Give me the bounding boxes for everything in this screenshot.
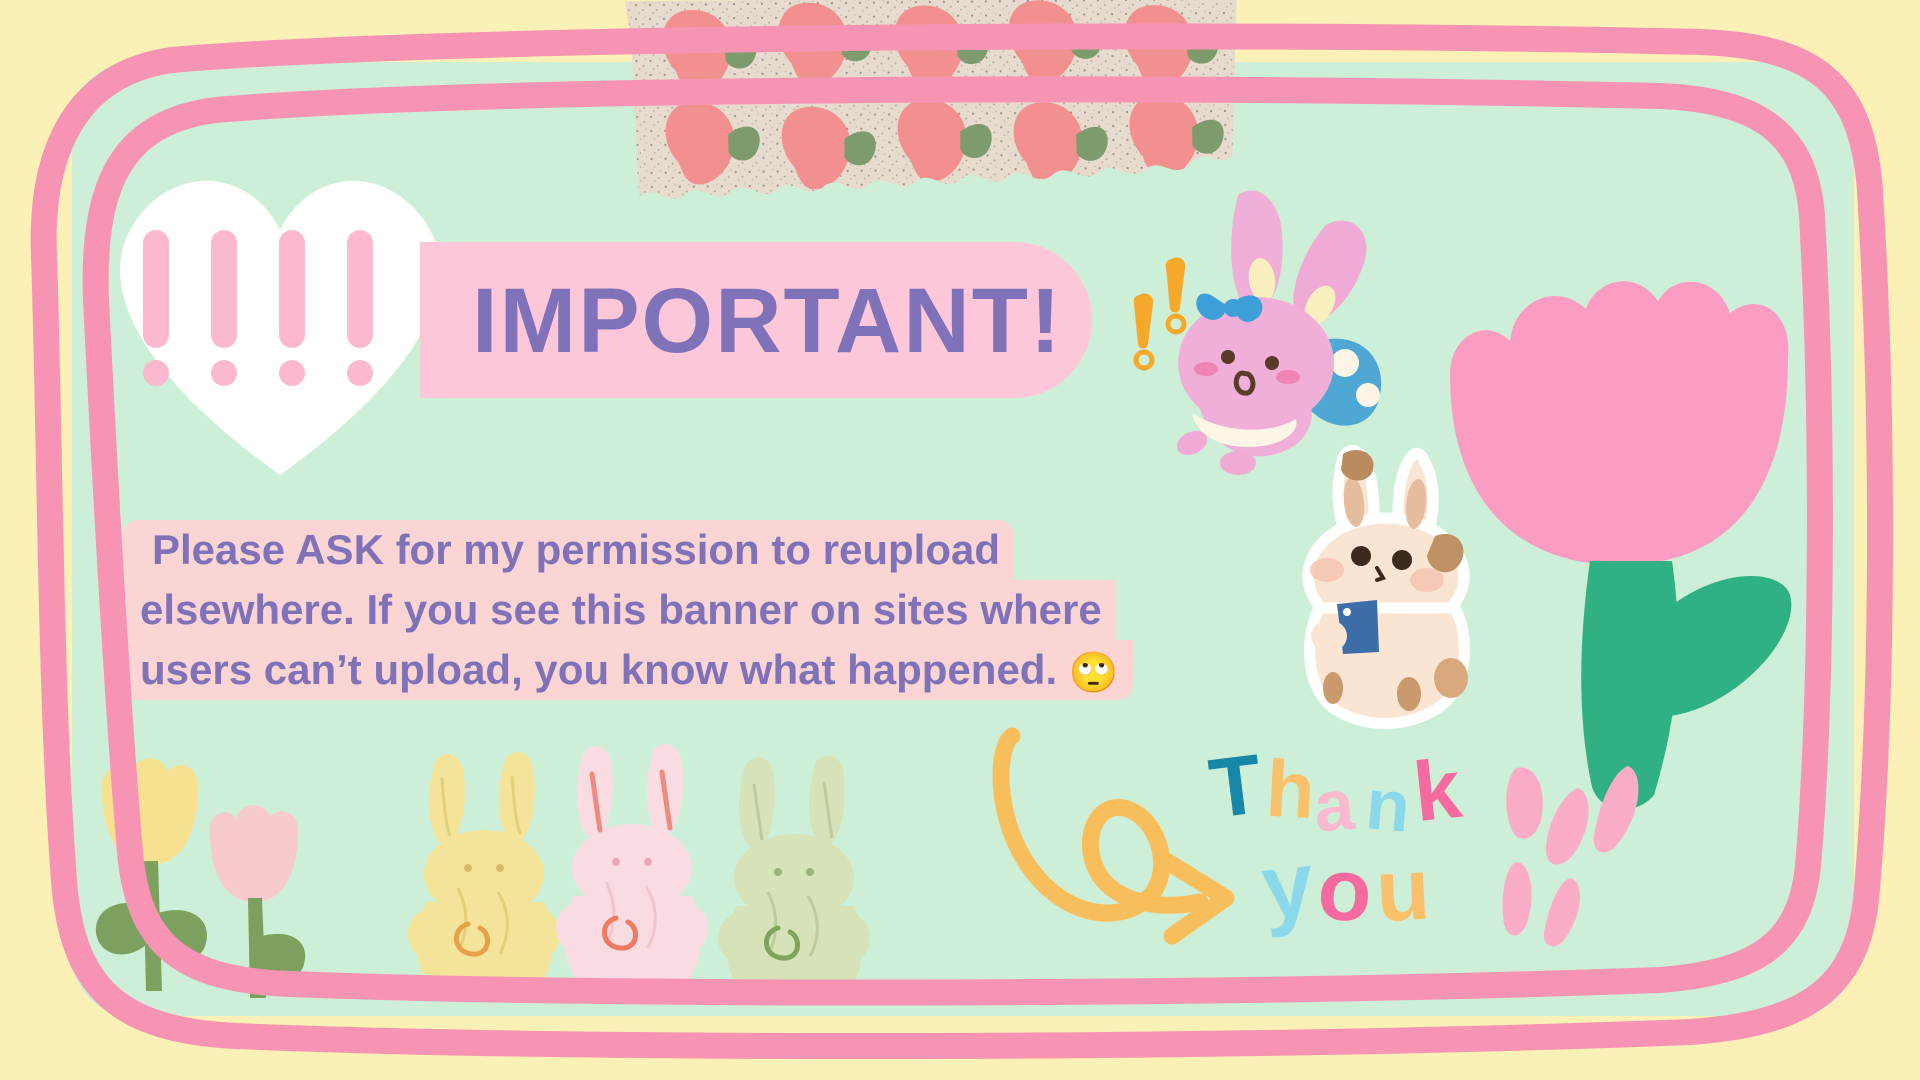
thank-you-letter-h: h: [1264, 749, 1317, 831]
thank-you-lettering: T h a n k y o u: [1210, 740, 1510, 960]
pink-tulip-sticker: [198, 802, 313, 1007]
thank-you-letter-u: u: [1374, 845, 1432, 936]
notice-line-1: Please ASK for my permission to reupload: [122, 520, 1014, 580]
thank-you-letter-T: T: [1205, 741, 1266, 831]
page-title: IMPORTANT!: [472, 258, 1092, 384]
notice-line-3: users can’t upload, you know what happen…: [122, 640, 1133, 700]
notice-text-block: Please ASK for my permission to reupload…: [122, 520, 1157, 716]
thank-you-letter-o: o: [1315, 844, 1375, 936]
notice-line-2: elsewhere. If you see this banner on sit…: [122, 580, 1116, 640]
thank-you-letter-k: k: [1410, 746, 1465, 834]
notice-line-3-text: users can’t upload, you know what happen…: [140, 646, 1057, 693]
thank-you-letter-n: n: [1363, 768, 1413, 844]
white-heart-exclamations-sticker: [100, 160, 460, 480]
gummy-bunny-green-sticker: [710, 752, 878, 1000]
thank-you-letter-y: y: [1257, 838, 1318, 935]
rolling-eyes-emoji: 🙄: [1069, 651, 1119, 695]
banner-canvas: IMPORTANT! Please ASK for my permission …: [0, 0, 1920, 1080]
falling-petals-decor: [1500, 760, 1730, 950]
thank-you-letter-a: a: [1312, 769, 1357, 844]
gummy-bunny-pink-sticker: [548, 740, 716, 995]
flying-bunny-sticker: [1130, 185, 1390, 475]
gummy-bunny-yellow-sticker: [398, 748, 568, 998]
